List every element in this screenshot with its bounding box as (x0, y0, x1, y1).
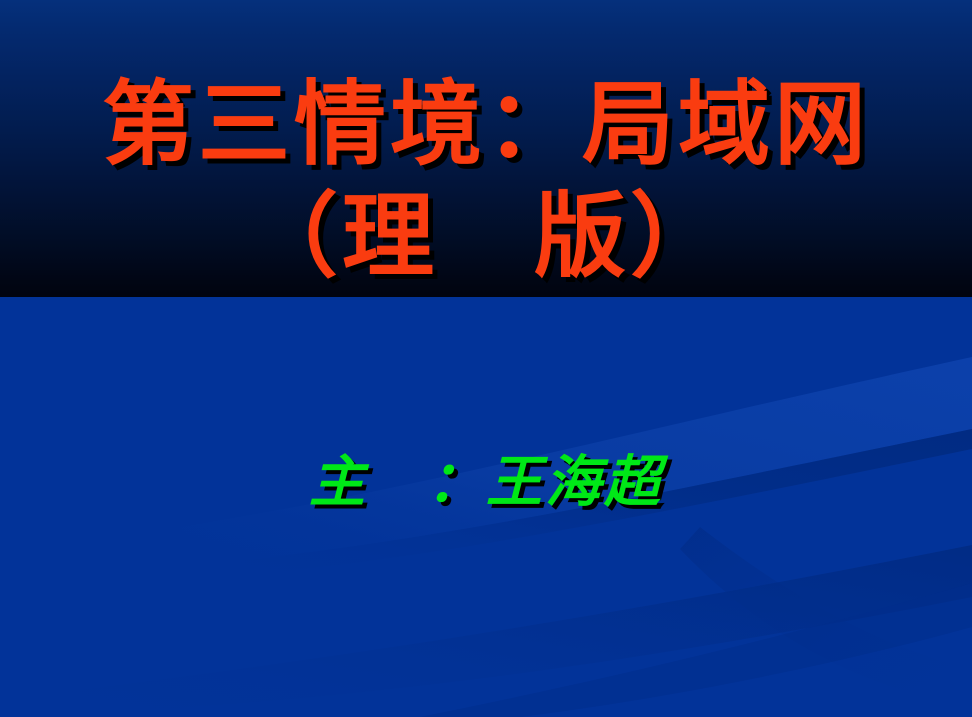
slide-subtitle: 主 ：王海超 (0, 437, 972, 518)
slide-title-line-1: 第三情境：局域网 (0, 78, 972, 172)
slide-title: 第三情境：局域网 （理 版） (0, 78, 972, 284)
slide-title-line-2: （理 版） (0, 190, 972, 284)
slide-subtitle-presenter: 主 ：王海超 (0, 437, 972, 518)
presentation-slide: 第三情境：局域网 （理 版） 主 ：王海超 (0, 0, 972, 717)
